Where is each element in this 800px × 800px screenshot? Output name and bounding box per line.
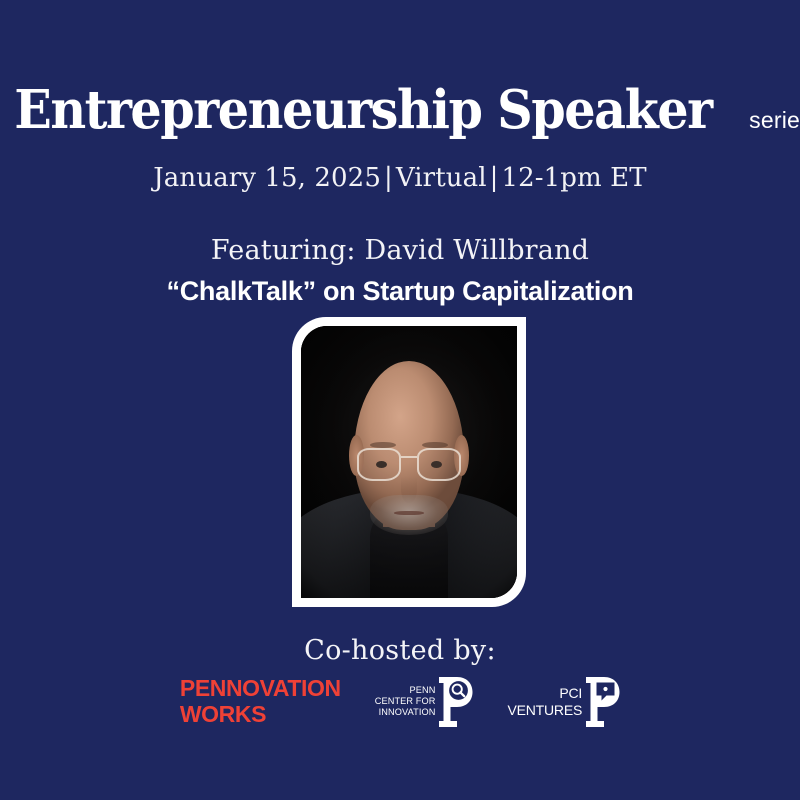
- speaker-photo-frame: [292, 317, 526, 607]
- event-date: January 15, 2025: [153, 163, 381, 193]
- photo-vignette: [301, 326, 517, 598]
- pci-line3: INNOVATION: [375, 707, 436, 718]
- cohost-logo-row: PENNOVATION WORKS PENN CENTER FOR INNOVA…: [0, 676, 800, 728]
- title-main-text: Entrepreneurship Speaker: [15, 84, 712, 137]
- detail-separator-2: |: [487, 163, 502, 193]
- page-title: Entrepreneurship Speaker series: [0, 84, 800, 137]
- p-speech-bubble-mark-icon: [584, 677, 620, 727]
- pci-line1: PENN: [375, 685, 436, 696]
- talk-title: “ChalkTalk” on Startup Capitalization: [0, 276, 800, 307]
- detail-separator-1: |: [381, 163, 396, 193]
- pci-ventures-line2: VENTURES: [507, 702, 582, 719]
- event-flyer: Entrepreneurship Speaker series January …: [0, 0, 800, 800]
- pci-ventures-line1: PCI: [507, 685, 582, 702]
- logo-pennovation-works: PENNOVATION WORKS: [180, 676, 341, 728]
- event-details-line: January 15, 2025|Virtual|12-1pm ET: [0, 163, 800, 193]
- pci-line2: CENTER FOR: [375, 696, 436, 707]
- p-magnifier-mark-icon: [437, 677, 473, 727]
- speaker-photo: [301, 326, 517, 598]
- logo-penn-center-for-innovation: PENN CENTER FOR INNOVATION: [375, 677, 474, 727]
- pci-wordmark: PENN CENTER FOR INNOVATION: [375, 685, 436, 719]
- pennovation-line1: PENNOVATION: [180, 676, 341, 702]
- speaker-featuring: Featuring: David Willbrand: [0, 235, 800, 266]
- title-suffix-text: series: [749, 107, 800, 134]
- event-time: 12-1pm ET: [502, 163, 647, 193]
- pci-ventures-wordmark: PCI VENTURES: [507, 685, 582, 718]
- event-format: Virtual: [396, 163, 487, 193]
- logo-pci-ventures: PCI VENTURES: [507, 677, 620, 727]
- pennovation-line2: WORKS: [180, 702, 341, 728]
- cohost-label: Co-hosted by:: [0, 635, 800, 666]
